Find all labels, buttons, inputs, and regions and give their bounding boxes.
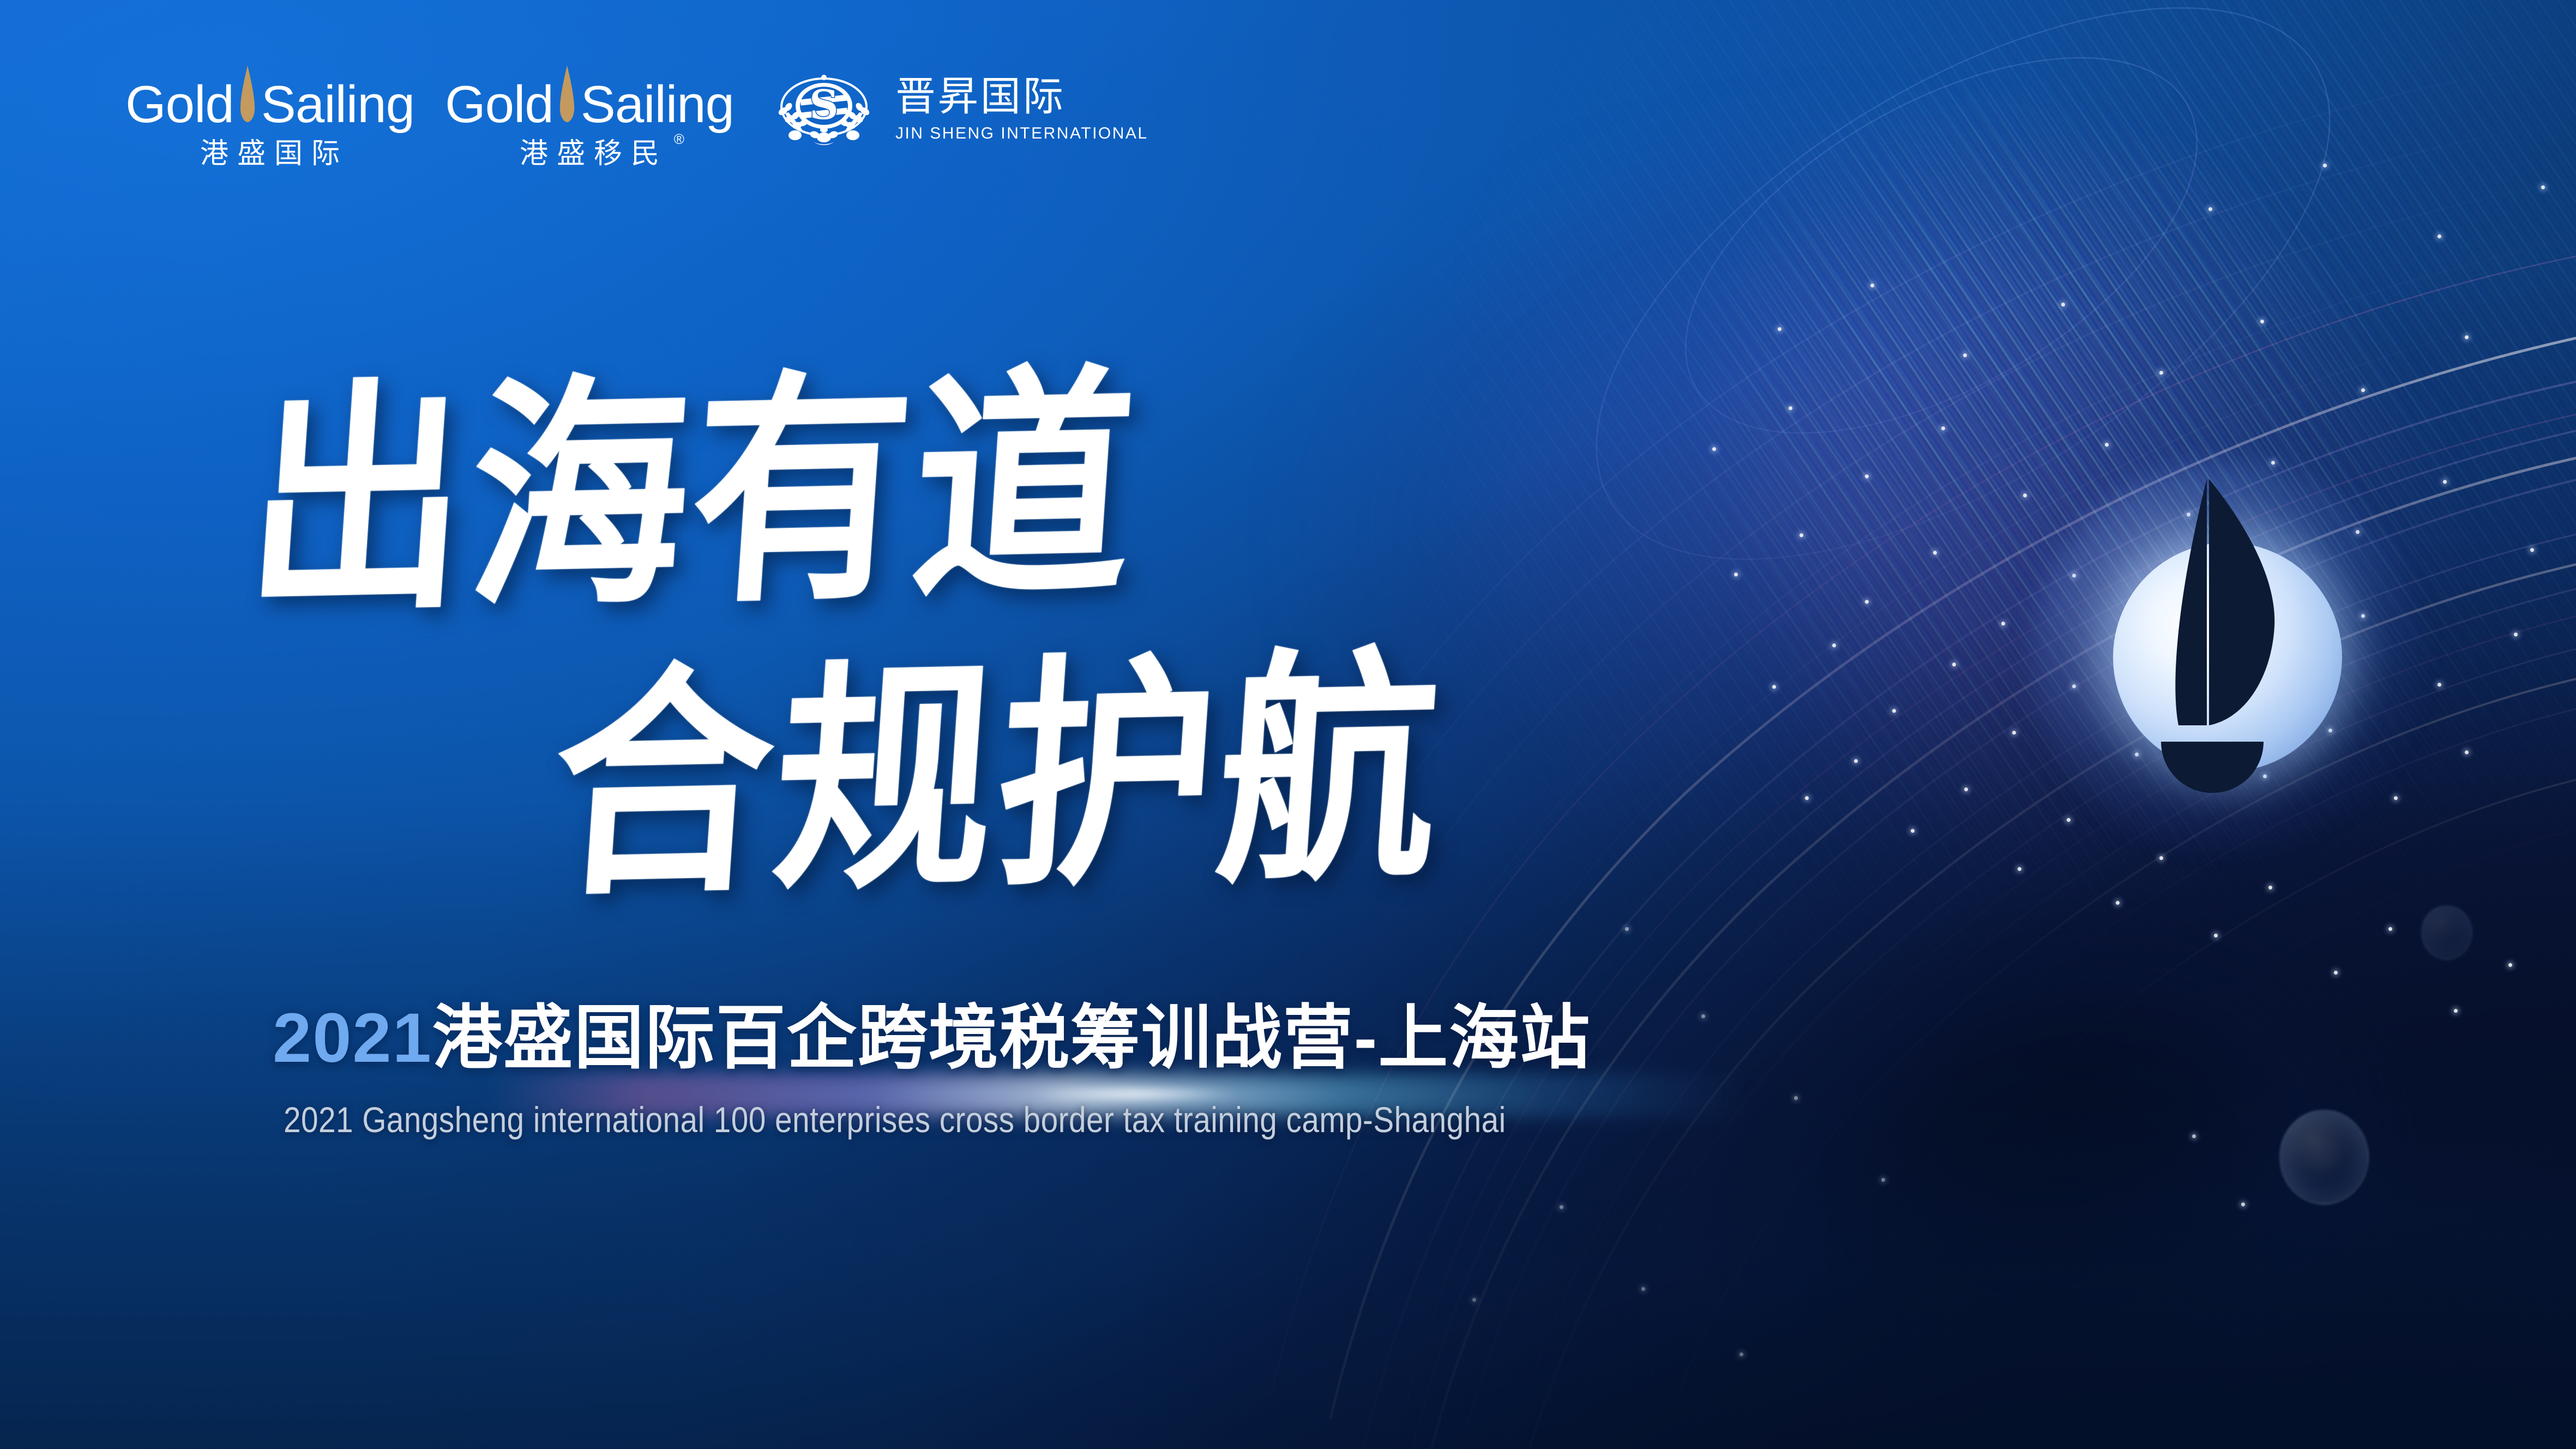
- logo-wordmark: Gold Sailing: [125, 65, 414, 131]
- svg-text:S: S: [809, 82, 838, 129]
- logo-word-gold: Gold: [125, 79, 234, 131]
- poster-canvas: Gold Sailing 港盛国际 Gold Sailing: [0, 0, 2576, 1449]
- logo-wordmark: Gold Sailing: [445, 65, 734, 131]
- logo-gold-sailing-immigration[interactable]: Gold Sailing 港盛移民 ®: [445, 65, 734, 168]
- subtitle-year: 2021: [273, 999, 432, 1077]
- jin-sheng-text-block: 晋昇国际 JIN SHENG INTERNATIONAL: [895, 76, 1148, 143]
- subtitle-english: 2021 Gangsheng international 100 enterpr…: [284, 1102, 1506, 1138]
- registered-trademark-icon: ®: [665, 132, 684, 146]
- jin-sheng-english-name: JIN SHENG INTERNATIONAL: [895, 124, 1148, 143]
- sailboat-icon: [2069, 469, 2353, 818]
- jin-sheng-emblem-icon: S: [767, 69, 881, 151]
- sail-icon: [238, 65, 257, 122]
- sail-icon: [558, 65, 576, 122]
- logo-bar: Gold Sailing 港盛国际 Gold Sailing: [125, 65, 1148, 168]
- moon-and-boat-decoration: [2102, 532, 2353, 783]
- subtitle-chinese-body: 港盛国际百企跨境税筹训战营-上海站: [432, 999, 1591, 1077]
- logo-jin-sheng-international[interactable]: S: [767, 69, 1148, 151]
- logo-word-sailing: Sailing: [261, 79, 414, 131]
- logo-word-gold: Gold: [445, 79, 553, 131]
- subtitle-chinese: 2021港盛国际百企跨境税筹训战营-上海站: [273, 1003, 1591, 1073]
- logo-chinese-name: 港盛国际: [191, 140, 348, 168]
- logo-gold-sailing-international[interactable]: Gold Sailing 港盛国际: [125, 65, 414, 168]
- logo-word-sailing: Sailing: [581, 79, 734, 131]
- logo-chinese-name: 港盛移民 ®: [511, 140, 668, 168]
- jin-sheng-chinese-name: 晋昇国际: [895, 76, 1066, 117]
